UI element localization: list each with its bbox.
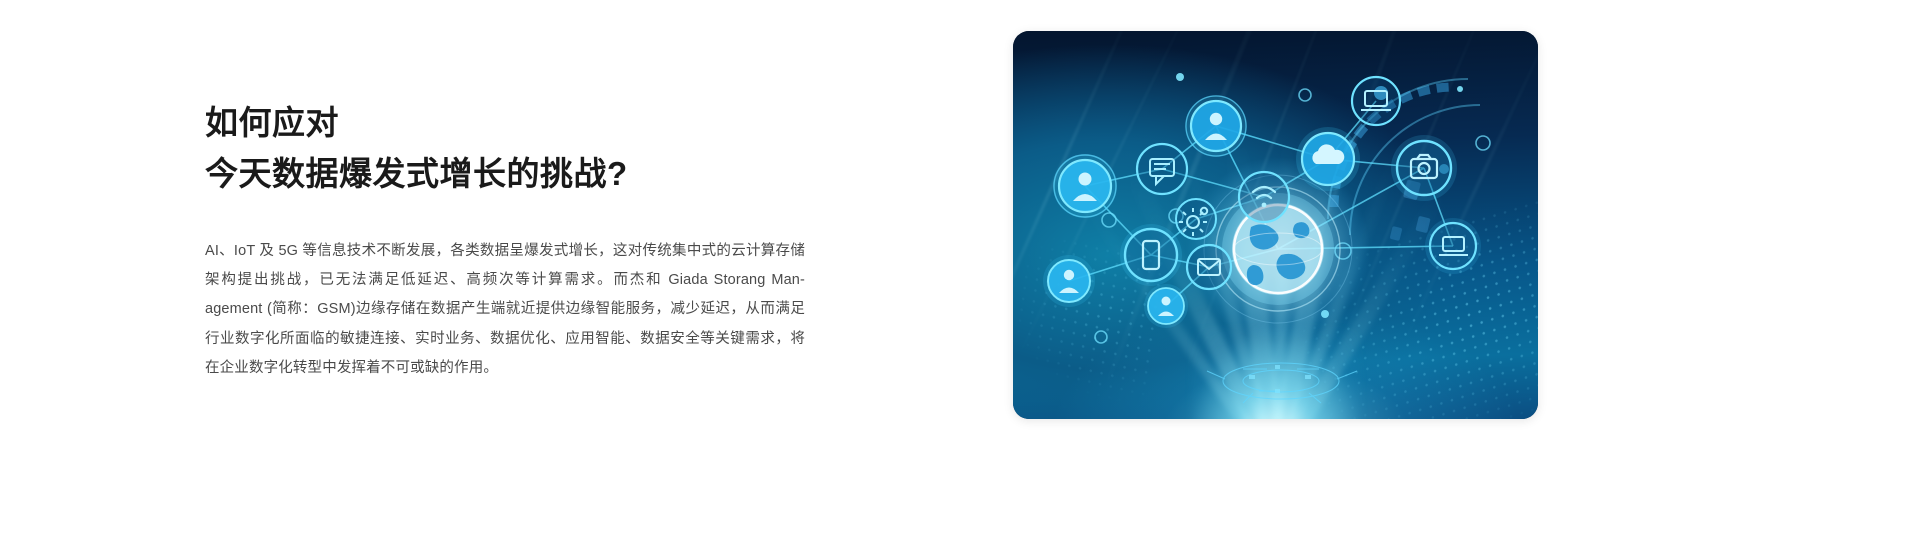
hero-image — [1013, 31, 1538, 419]
page-root: 如何应对 今天数据爆发式增长的挑战? AI、IoT 及 5G 等信息技术不断发展… — [0, 0, 1920, 554]
page-title-line-1: 如何应对 — [205, 96, 825, 149]
page-title-line-2: 今天数据爆发式增长的挑战? — [205, 147, 825, 200]
text-column: 如何应对 今天数据爆发式增长的挑战? AI、IoT 及 5G 等信息技术不断发展… — [205, 96, 825, 383]
body-paragraph-container: AI、IoT 及 5G 等信息技术不断发展，各类数据呈爆发式增长，这对传统集中式… — [205, 237, 805, 383]
circuit-detail — [1013, 31, 1538, 419]
body-paragraph: AI、IoT 及 5G 等信息技术不断发展，各类数据呈爆发式增长，这对传统集中式… — [205, 237, 805, 383]
